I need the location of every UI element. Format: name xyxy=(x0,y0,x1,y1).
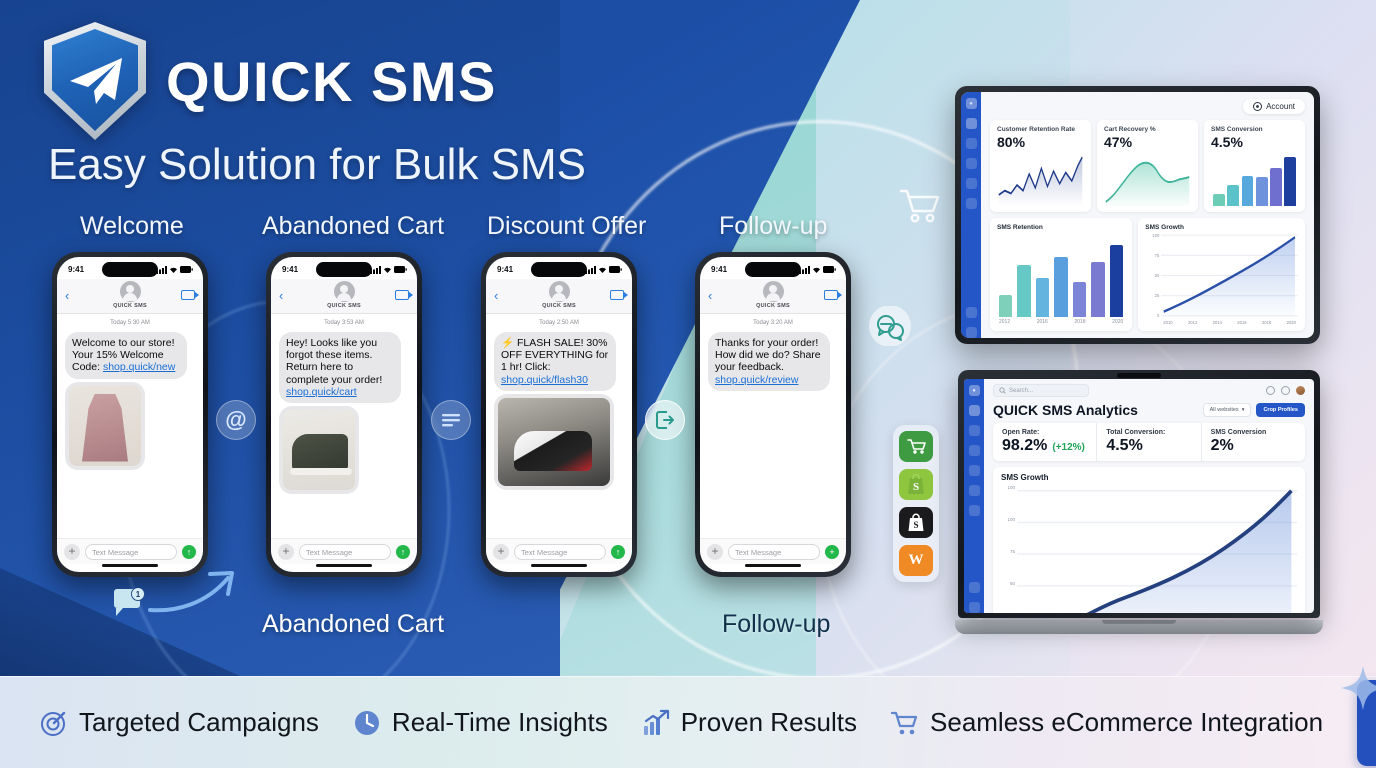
add-attachment-icon[interactable]: + xyxy=(707,544,723,560)
stage-label-welcome: Welcome xyxy=(80,212,184,241)
x-tick: 2020 xyxy=(1287,320,1296,325)
phone-input-bar[interactable]: + Text Message ↑ xyxy=(271,538,417,564)
phone-mockup-discount-offer: 9:41 ‹ QUICK SMS Today 2:50 AM ⚡ FLASH xyxy=(481,252,637,577)
kpi-sms-conversion: SMS Conversion 2% xyxy=(1202,423,1305,461)
shopify-green-icon[interactable]: S xyxy=(899,469,933,500)
tablet-dashboard-mockup: ● Account Custom xyxy=(955,86,1320,344)
sidebar-item-contacts[interactable] xyxy=(966,158,977,169)
kpi-card-sms-conversion: SMS Conversion 4.5% xyxy=(1204,120,1305,212)
at-sign-icon: @ xyxy=(216,400,256,440)
status-icons xyxy=(585,266,622,274)
sidebar-item-settings[interactable] xyxy=(966,307,977,318)
ecommerce-platform-list: S S W xyxy=(893,425,939,582)
laptop-page-header: QUICK SMS Analytics All websites ▾ Crop … xyxy=(984,402,1314,423)
wifi-icon xyxy=(812,266,821,274)
sidebar-logo-icon[interactable]: ● xyxy=(969,385,980,396)
crop-profiles-button[interactable]: Crop Profiles xyxy=(1256,403,1305,417)
tagline: Easy Solution for Bulk SMS xyxy=(48,140,586,190)
message-text: Hey! Looks like you forgot these items. … xyxy=(286,337,382,386)
laptop-sidebar: ● xyxy=(964,379,984,613)
phone-mockup-welcome: 9:41 ‹ QUICK SMS Today 5:30 AM Welcome xyxy=(52,252,208,577)
back-icon[interactable]: ‹ xyxy=(65,289,79,302)
message-image-bubble xyxy=(65,382,145,470)
search-input[interactable]: Search... xyxy=(993,384,1089,397)
clock-icon xyxy=(353,709,381,737)
back-icon[interactable]: ‹ xyxy=(494,289,508,302)
contact-name: QUICK SMS xyxy=(113,303,147,309)
shield-paper-plane-icon xyxy=(44,22,146,140)
chevron-down-icon: ▾ xyxy=(1242,407,1245,413)
y-tick: 0 xyxy=(1145,313,1159,318)
wifi-icon xyxy=(598,266,607,274)
status-icons xyxy=(799,266,836,274)
contact-name: QUICK SMS xyxy=(756,303,790,309)
kpi-value: 80% xyxy=(997,134,1084,150)
sidebar-item-analytics[interactable] xyxy=(966,198,977,209)
x-tick: 2018 xyxy=(1262,320,1271,325)
battery-icon xyxy=(180,266,193,273)
stage-label-abandoned-cart: Abandoned Cart xyxy=(262,212,444,241)
tablet-dashboard-body: Account Customer Retention Rate 80% xyxy=(981,92,1314,338)
phone-message-area: Today 2:50 AM ⚡ FLASH SALE! 30% OFF EVER… xyxy=(486,314,632,538)
message-timestamp: Today 3:53 AM xyxy=(279,320,409,326)
feature-proven-results: Proven Results xyxy=(642,707,857,738)
kpi-chart-bars xyxy=(1211,153,1298,206)
send-icon[interactable]: + xyxy=(825,545,839,559)
x-tick: 2020 xyxy=(1112,319,1123,325)
kpi-chart-area xyxy=(1104,153,1191,206)
x-tick: 2016 xyxy=(1237,320,1246,325)
kpi-value: 2% xyxy=(1211,437,1296,455)
lines-glyph xyxy=(441,412,461,428)
kpi-card-customer-retention: Customer Retention Rate 80% xyxy=(990,120,1091,212)
y-tick: 50 xyxy=(1145,273,1159,278)
feature-label: Targeted Campaigns xyxy=(79,707,319,738)
sidebar-item-logout[interactable] xyxy=(969,602,980,613)
red-black-sneaker-product-image xyxy=(498,398,610,486)
contact-avatar xyxy=(763,281,784,302)
sidebar-logo-icon[interactable]: ● xyxy=(966,98,977,109)
message-badge-icon: 1 xyxy=(112,588,148,622)
sidebar-item-alerts[interactable] xyxy=(969,485,980,496)
sidebar-item-campaigns[interactable] xyxy=(969,425,980,436)
status-time: 9:41 xyxy=(282,265,298,274)
y-tick: 75 xyxy=(1145,253,1159,258)
growth-x-axis: 2010 2012 2014 2016 2018 2020 xyxy=(1161,320,1298,325)
battery-icon xyxy=(609,266,622,273)
message-timestamp: Today 5:30 AM xyxy=(65,320,195,326)
kpi-label: SMS Conversion xyxy=(1211,126,1298,133)
phone-notch xyxy=(102,262,158,277)
send-icon[interactable]: ↑ xyxy=(611,545,625,559)
laptop-kpi-row: Open Rate: 98.2% (+12%) Total Conversion… xyxy=(993,423,1305,461)
phone-input-bar[interactable]: + Text Message + xyxy=(700,538,846,564)
shopping-cart-icon xyxy=(898,186,942,226)
laptop-growth-chart: SMS Growth 100 100 75 50 25 0 xyxy=(993,467,1305,613)
feature-label: Proven Results xyxy=(681,707,857,738)
search-placeholder: Search... xyxy=(1009,388,1033,394)
wifi-icon xyxy=(383,266,392,274)
woocommerce-icon[interactable]: W xyxy=(899,545,933,576)
video-call-icon[interactable] xyxy=(610,290,624,300)
y-tick: 100 xyxy=(1001,517,1015,522)
phone-message-area: Today 3:20 AM Thanks for your order! How… xyxy=(700,314,846,538)
x-tick: 2012 xyxy=(999,319,1010,325)
account-button-label: Account xyxy=(1266,102,1295,111)
status-time: 9:41 xyxy=(68,265,84,274)
add-attachment-icon[interactable]: + xyxy=(493,544,509,560)
contact-avatar xyxy=(549,281,570,302)
y-tick: 25 xyxy=(1145,293,1159,298)
tablet-sidebar: ● xyxy=(961,92,981,338)
sidebar-item-settings[interactable] xyxy=(969,582,980,593)
message-text: ⚡ FLASH SALE! 30% OFF EVERYTHING for 1 h… xyxy=(501,337,608,373)
pink-dress-product-image xyxy=(69,386,141,466)
target-icon xyxy=(40,709,68,737)
tablet-kpi-row: Customer Retention Rate 80% Cart Recover… xyxy=(990,120,1305,212)
status-time: 9:41 xyxy=(711,265,727,274)
message-text: Thanks for your order! How did we do? Sh… xyxy=(715,337,821,373)
page-title: QUICK SMS Analytics xyxy=(993,402,1138,418)
kpi-label: Cart Recovery % xyxy=(1104,126,1191,133)
kpi-chart-line xyxy=(997,153,1084,206)
send-icon[interactable]: ↑ xyxy=(182,545,196,559)
y-tick: 100 xyxy=(1001,485,1015,490)
chat-bubbles-glyph xyxy=(868,306,912,346)
paper-plane-icon xyxy=(66,55,124,107)
laptop-analytics-mockup: ● Search... xyxy=(955,370,1323,642)
feature-targeted-campaigns: Targeted Campaigns xyxy=(40,707,319,738)
green-sneaker-product-image xyxy=(283,410,355,490)
message-input[interactable]: Text Message xyxy=(85,544,177,560)
account-icon xyxy=(1253,102,1262,111)
message-lines-icon xyxy=(431,400,471,440)
search-icon xyxy=(999,387,1006,394)
battery-icon xyxy=(394,266,407,273)
message-bubble: Thanks for your order! How did we do? Sh… xyxy=(708,332,830,391)
status-time: 9:41 xyxy=(497,265,513,274)
y-tick: 75 xyxy=(1001,549,1015,554)
panel-title: SMS Retention xyxy=(997,224,1125,231)
shopping-cart-platform-icon[interactable] xyxy=(899,431,933,462)
sidebar-item-contacts[interactable] xyxy=(969,445,980,456)
message-link[interactable]: shop.quick/flash30 xyxy=(501,374,588,386)
kpi-open-rate: Open Rate: 98.2% (+12%) xyxy=(993,423,1097,461)
account-button[interactable]: Account xyxy=(1243,99,1305,114)
get-started-button[interactable]: Get Started xyxy=(1357,680,1376,766)
kpi-value: 98.2% xyxy=(1002,437,1047,455)
message-input[interactable]: Text Message xyxy=(728,544,820,560)
stage-label-bottom-abandoned-cart: Abandoned Cart xyxy=(262,610,444,639)
shopify-dark-bag-glyph: S xyxy=(907,513,925,533)
kpi-delta: (+12%) xyxy=(1052,442,1085,453)
video-call-icon[interactable] xyxy=(395,290,409,300)
panel-title: SMS Growth xyxy=(1145,224,1298,231)
message-timestamp: Today 3:20 AM xyxy=(708,320,838,326)
message-input[interactable]: Text Message xyxy=(514,544,606,560)
kpi-label: SMS Conversion xyxy=(1211,429,1296,436)
add-attachment-icon[interactable]: + xyxy=(64,544,80,560)
feature-ecommerce-integration: Seamless eCommerce Integration xyxy=(891,707,1323,738)
phone-notch xyxy=(531,262,587,277)
svg-text:S: S xyxy=(913,520,918,530)
phone-mockup-follow-up: 9:41 ‹ QUICK SMS Today 3:20 AM Thanks xyxy=(695,252,851,577)
growth-chart-icon xyxy=(642,709,670,737)
phone-message-area: Today 3:53 AM Hey! Looks like you forgot… xyxy=(271,314,417,538)
sidebar-item-help[interactable] xyxy=(969,505,980,516)
phone-notch xyxy=(745,262,801,277)
logo-text: QUICK SMS xyxy=(166,49,497,114)
svg-text:S: S xyxy=(913,481,919,493)
filter-label: All websites xyxy=(1210,407,1239,413)
home-indicator xyxy=(102,564,158,567)
message-timestamp: Today 2:50 AM xyxy=(494,320,624,326)
message-bubble: ⚡ FLASH SALE! 30% OFF EVERYTHING for 1 h… xyxy=(494,332,616,391)
feature-label: Real-Time Insights xyxy=(392,707,608,738)
stage-label-follow-up: Follow-up xyxy=(719,212,827,241)
website-filter-select[interactable]: All websites ▾ xyxy=(1203,403,1252,417)
kpi-label: Total Conversion: xyxy=(1106,429,1191,436)
battery-icon xyxy=(823,266,836,273)
chat-bubbles-icon xyxy=(868,306,912,346)
kpi-value: 4.5% xyxy=(1106,437,1191,455)
x-tick: 2014 xyxy=(1213,320,1222,325)
export-share-icon xyxy=(645,400,685,440)
contact-avatar xyxy=(120,281,141,302)
feature-label: Seamless eCommerce Integration xyxy=(930,707,1323,738)
phone-message-area: Today 5:30 AM Welcome to our store! Your… xyxy=(57,314,203,538)
avatar[interactable] xyxy=(1296,386,1305,395)
y-tick: 100 xyxy=(1145,233,1159,238)
x-tick: 2016 xyxy=(1037,319,1048,325)
x-tick: 2012 xyxy=(1188,320,1197,325)
shopping-cart-icon xyxy=(891,709,919,737)
sidebar-item-reports[interactable] xyxy=(969,465,980,476)
message-link[interactable]: shop.quick/new xyxy=(103,361,175,373)
panel-sms-growth: SMS Growth 100 75 50 25 0 xyxy=(1138,218,1305,331)
chart-title: SMS Growth xyxy=(1001,473,1297,482)
message-link[interactable]: shop.quick/review xyxy=(715,374,798,386)
add-attachment-icon[interactable]: + xyxy=(278,544,294,560)
phone-mockup-abandoned-cart: 9:41 ‹ QUICK SMS Today 3:53 AM Hey! Lo xyxy=(266,252,422,577)
video-call-icon[interactable] xyxy=(181,290,195,300)
panel-x-axis: 2012 2016 2018 2020 xyxy=(997,319,1125,325)
phone-input-bar[interactable]: + Text Message ↑ xyxy=(57,538,203,564)
message-input[interactable]: Text Message xyxy=(299,544,391,560)
phone-chat-header: ‹ QUICK SMS xyxy=(486,279,632,314)
send-icon[interactable]: ↑ xyxy=(396,545,410,559)
message-bubble: Welcome to our store! Your 15% Welcome C… xyxy=(65,332,187,379)
laptop-content: Search... QUICK SMS Analytics All webs xyxy=(984,379,1314,613)
contact-name: QUICK SMS xyxy=(327,303,361,309)
promo-banner: QUICK SMS Easy Solution for Bulk SMS Wel… xyxy=(0,0,1376,768)
stage-label-discount-offer: Discount Offer xyxy=(487,212,646,241)
kpi-value: 4.5% xyxy=(1211,134,1298,150)
export-glyph xyxy=(655,410,675,430)
sidebar-item-home[interactable] xyxy=(966,118,977,129)
message-badge-glyph: 1 xyxy=(112,588,148,622)
back-icon[interactable]: ‹ xyxy=(279,289,293,302)
status-icons xyxy=(156,266,193,274)
contact-name: QUICK SMS xyxy=(542,303,576,309)
laptop-camera xyxy=(1117,373,1161,378)
panel-sms-retention: SMS Retention 2012 2016 xyxy=(990,218,1132,331)
home-indicator xyxy=(745,564,801,567)
laptop-base xyxy=(955,620,1323,634)
video-call-icon[interactable] xyxy=(824,290,838,300)
sidebar-item-logout[interactable] xyxy=(966,327,977,338)
feature-bar: Targeted Campaigns Real-Time Insights Pr… xyxy=(0,676,1376,768)
message-link[interactable]: shop.quick/cart xyxy=(286,386,357,398)
feature-real-time-insights: Real-Time Insights xyxy=(353,707,608,738)
message-image-bubble xyxy=(494,394,614,490)
chart-y-axis: 100 100 75 50 25 0 xyxy=(1001,485,1017,613)
phone-chat-header: ‹ QUICK SMS xyxy=(271,279,417,314)
laptop-topbar: Search... xyxy=(984,379,1314,402)
home-indicator xyxy=(316,564,372,567)
x-tick: 2010 xyxy=(1163,320,1172,325)
chart-plot-area xyxy=(1017,485,1297,613)
growth-plot xyxy=(1161,233,1298,318)
brand-lockup: QUICK SMS xyxy=(44,22,497,140)
x-tick: 2018 xyxy=(1074,319,1085,325)
stage-label-bottom-follow-up: Follow-up xyxy=(722,610,830,639)
y-tick: 50 xyxy=(1001,581,1015,586)
kpi-total-conversion: Total Conversion: 4.5% xyxy=(1097,423,1201,461)
shopify-bag-glyph: S xyxy=(906,474,926,496)
sidebar-item-campaigns[interactable] xyxy=(966,138,977,149)
notification-bell-icon[interactable] xyxy=(1281,386,1290,395)
laptop-top-icons xyxy=(1266,386,1305,395)
contact-avatar xyxy=(334,281,355,302)
message-image-bubble xyxy=(279,406,359,494)
shopify-dark-icon[interactable]: S xyxy=(899,507,933,538)
back-icon[interactable]: ‹ xyxy=(708,289,722,302)
kpi-label: Open Rate: xyxy=(1002,429,1087,436)
phone-chat-header: ‹ QUICK SMS xyxy=(57,279,203,314)
curved-arrow-icon xyxy=(148,570,244,618)
wifi-icon xyxy=(169,266,178,274)
phone-input-bar[interactable]: + Text Message ↑ xyxy=(486,538,632,564)
cart-glyph xyxy=(907,438,926,455)
badge-count: 1 xyxy=(136,590,141,599)
help-icon[interactable] xyxy=(1266,386,1275,395)
phone-chat-header: ‹ QUICK SMS xyxy=(700,279,846,314)
kpi-value: 47% xyxy=(1104,134,1191,150)
status-icons xyxy=(370,266,407,274)
sidebar-item-reports[interactable] xyxy=(966,178,977,189)
phone-notch xyxy=(316,262,372,277)
home-indicator xyxy=(531,564,587,567)
kpi-card-cart-recovery: Cart Recovery % 47% xyxy=(1097,120,1198,212)
message-bubble: Hey! Looks like you forgot these items. … xyxy=(279,332,401,403)
sidebar-item-dashboard[interactable] xyxy=(969,405,980,416)
tablet-chart-row: SMS Retention 2012 2016 xyxy=(990,218,1305,331)
kpi-label: Customer Retention Rate xyxy=(997,126,1084,133)
